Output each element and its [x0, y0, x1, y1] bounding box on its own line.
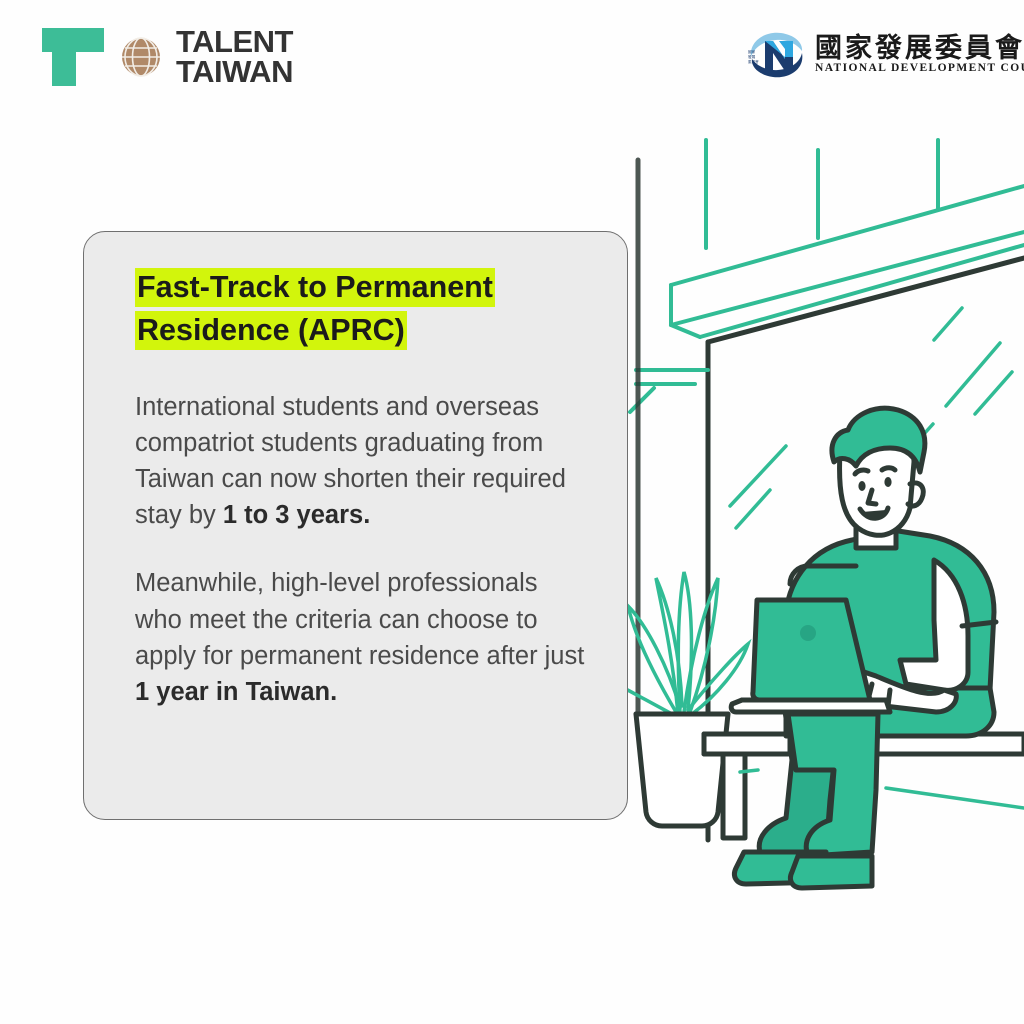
poster-canvas: .gl{fill:none;stroke:#31BC95;stroke-widt…: [0, 0, 1024, 1024]
ndc-swoosh-n-mark: 國家 發展 委員會: [745, 27, 807, 83]
ndc-wordmark: 國家發展委員會 NATIONAL DEVELOPMENT COUNCIL: [815, 35, 1024, 75]
svg-text:發展: 發展: [748, 54, 756, 59]
card-title: Fast-Track to Permanent Residence (APRC): [135, 266, 587, 353]
card-body: International students and overseas comp…: [135, 389, 587, 711]
info-card: Fast-Track to Permanent Residence (APRC)…: [83, 231, 628, 820]
card-paragraph-2: Meanwhile, high-level professionals who …: [135, 565, 587, 710]
paragraph-1-bold: 1 to 3 years.: [223, 501, 370, 529]
paragraph-2-bold: 1 year in Taiwan.: [135, 678, 337, 706]
talent-line-1: TALENT: [176, 27, 293, 57]
ndc-logo[interactable]: 國家 發展 委員會 國家發展委員會 NATIONAL DEVELOPMENT C…: [745, 27, 1024, 83]
ndc-english-name: NATIONAL DEVELOPMENT COUNCIL: [815, 63, 1024, 75]
talent-taiwan-logo[interactable]: TALENT TAIWAN: [40, 26, 293, 88]
card-title-line-2: Residence (APRC): [135, 311, 407, 350]
floor-accent-lines: [740, 770, 1024, 808]
svg-text:國家: 國家: [748, 49, 756, 54]
globe-icon: [120, 36, 162, 78]
card-title-line-1: Fast-Track to Permanent: [135, 268, 495, 307]
ndc-chinese-name: 國家發展委員會: [815, 35, 1024, 62]
talent-taiwan-flag-mark: [40, 26, 106, 88]
svg-text:委員會: 委員會: [748, 59, 759, 64]
paragraph-2-lead: Meanwhile, high-level professionals who …: [135, 569, 584, 669]
talent-taiwan-wordmark: TALENT TAIWAN: [176, 27, 293, 87]
talent-line-2: TAIWAN: [176, 57, 293, 87]
card-paragraph-1: International students and overseas comp…: [135, 389, 587, 534]
